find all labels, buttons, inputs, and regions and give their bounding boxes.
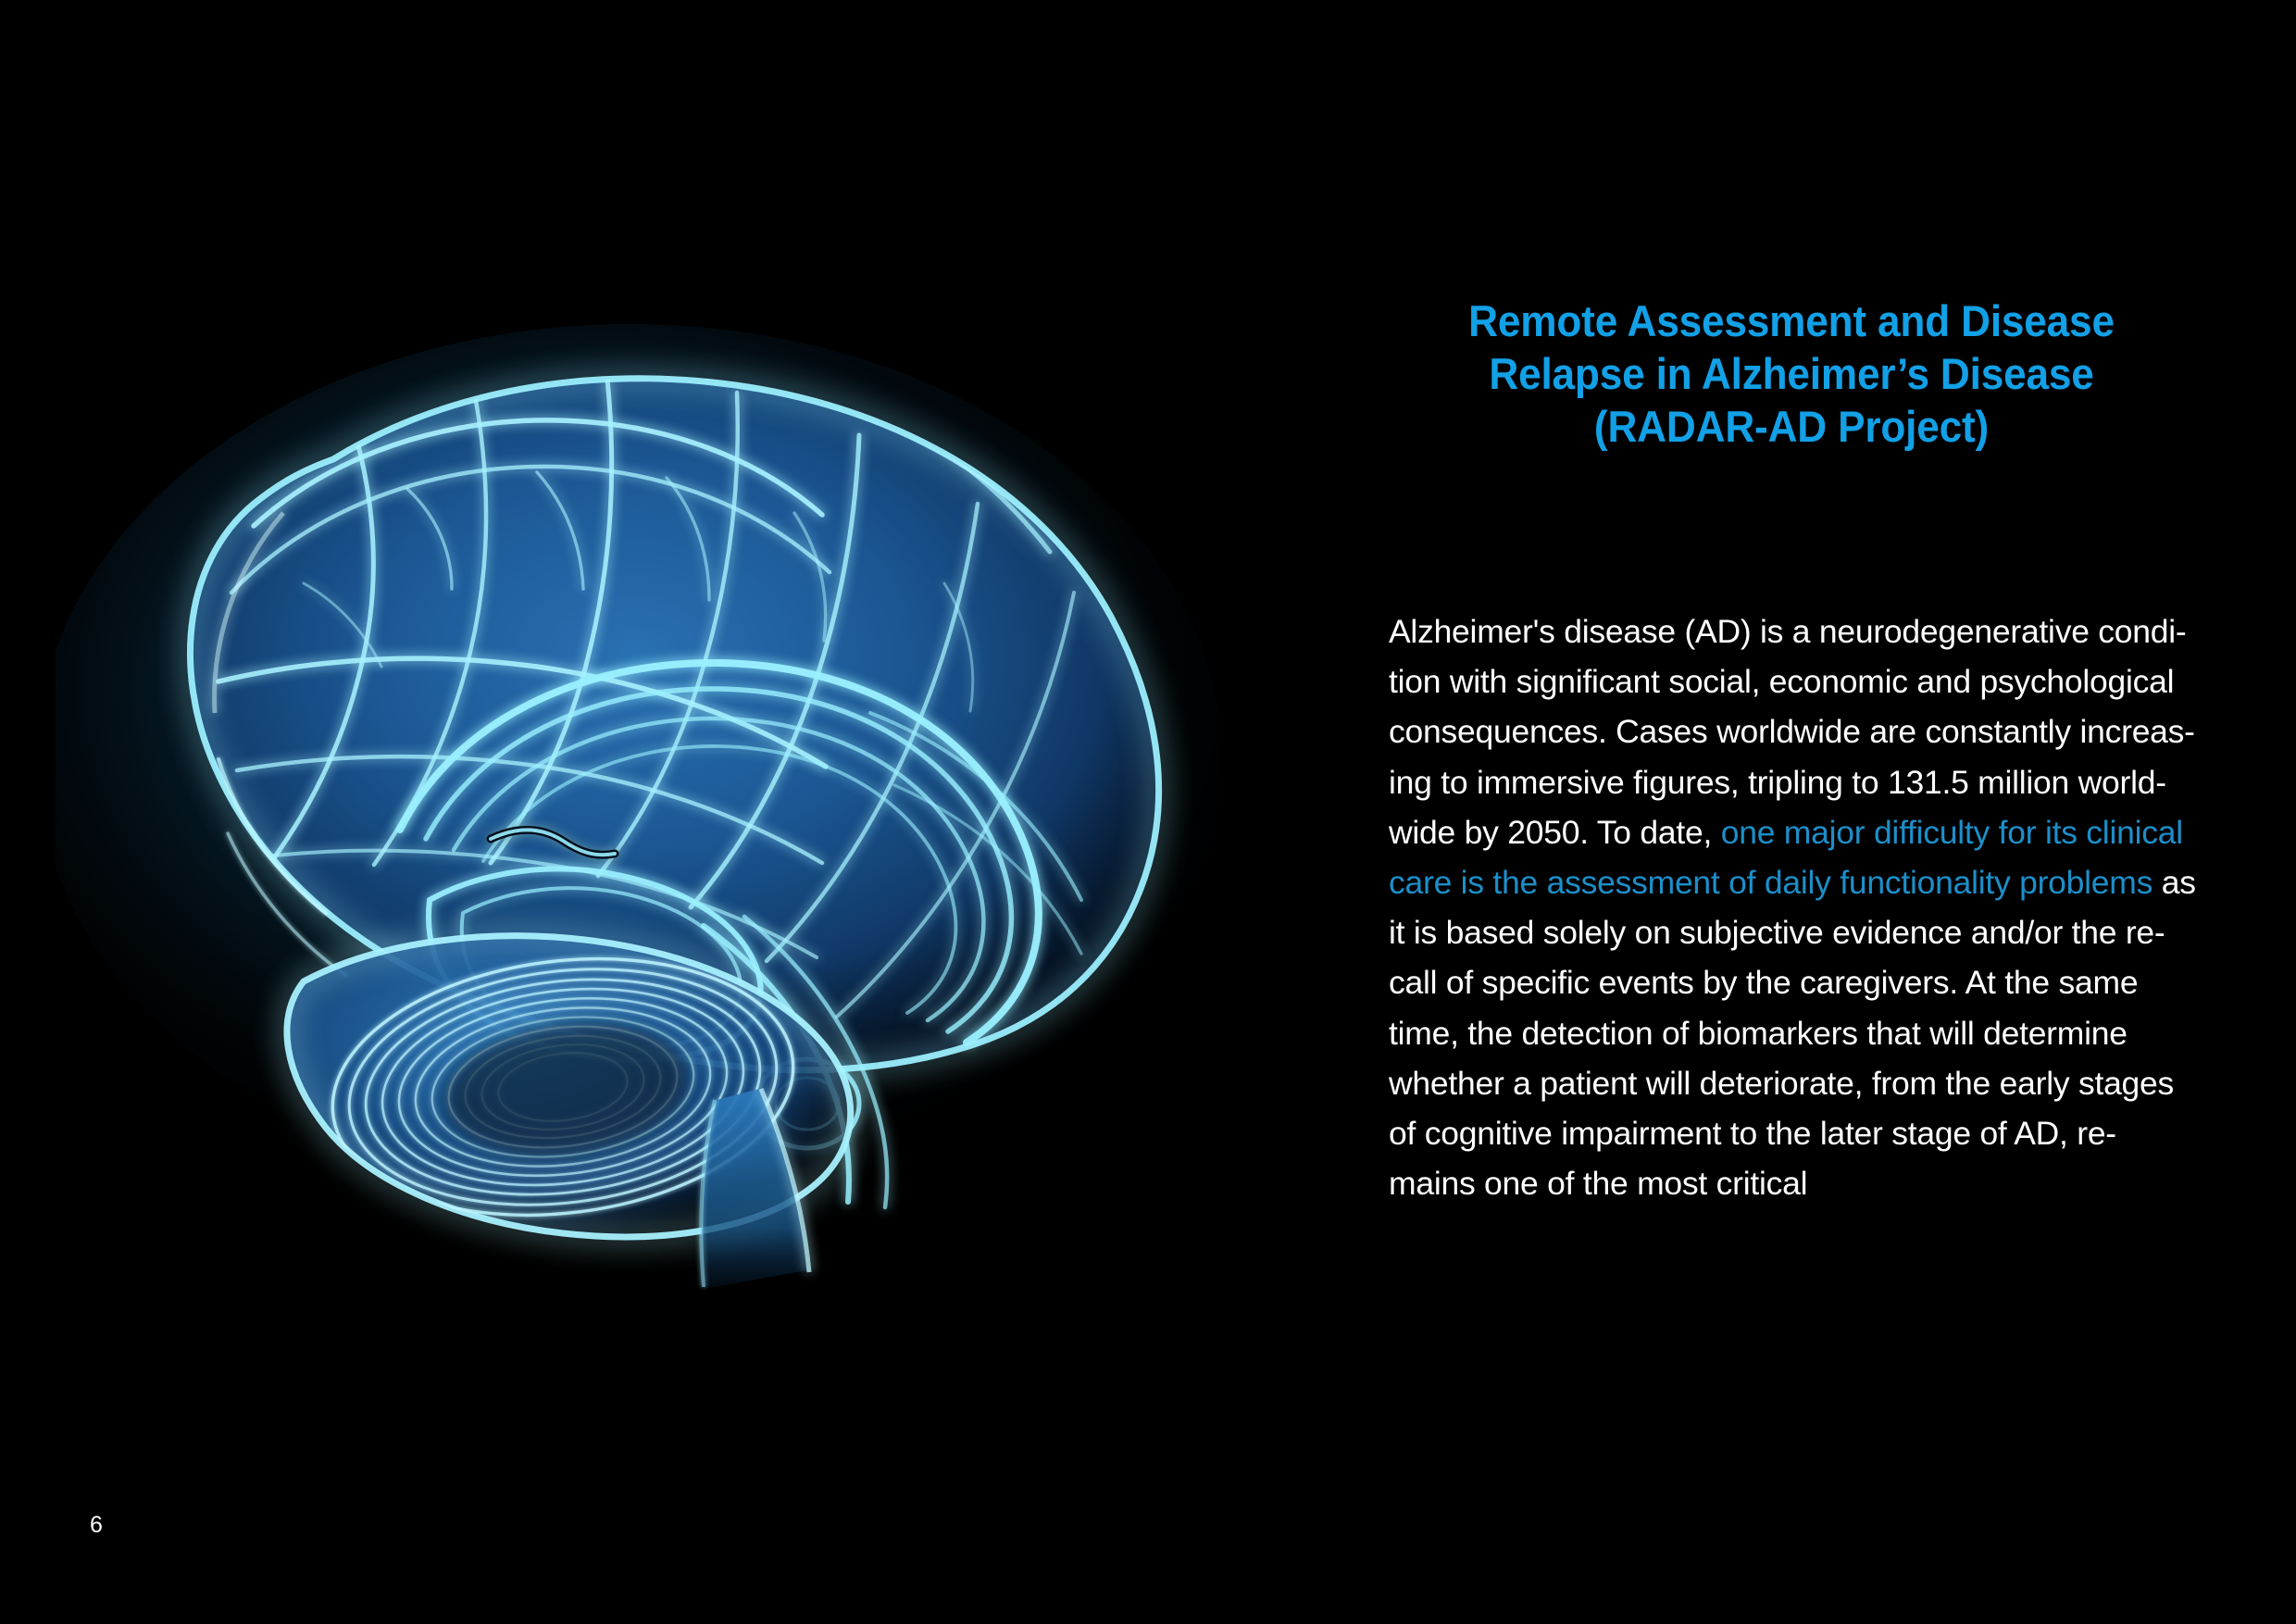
body-line: care is the assessment of daily function… <box>1389 857 2174 907</box>
body-line: time, the detection of biomarkers that w… <box>1389 1008 2174 1058</box>
body-line: wide by 2050. To date, one major difficu… <box>1389 807 2174 857</box>
title-line-2: Relapse in Alzheimer’s Disease <box>1374 347 2209 400</box>
body-text-run: call of specific events by the caregiver… <box>1389 964 2138 1001</box>
body-text-run: whether a patient will deteriorate, from… <box>1389 1065 2174 1102</box>
body-text-run: as <box>2152 864 2196 901</box>
page-number-left: 6 <box>90 1512 103 1539</box>
body-line: ing to immersive figures, tripling to 13… <box>1389 757 2174 807</box>
page-title: Remote Assessment and Disease Relapse in… <box>1374 294 2209 453</box>
body-text-run: mains one of the most critical <box>1389 1165 1807 1202</box>
body-text-run: wide by 2050. To date, <box>1389 814 1721 851</box>
body-text-run: tion with significant social, economic a… <box>1389 663 2174 700</box>
body-text-run: it is based solely on subjective evidenc… <box>1389 914 2165 951</box>
body-text-run: of cognitive impairment to the later sta… <box>1389 1115 2116 1152</box>
left-page: 6 <box>0 0 1291 1624</box>
body-text-run: consequences. Cases worldwide are consta… <box>1389 713 2195 750</box>
body-text-run: ing to immersive figures, tripling to 13… <box>1389 764 2166 801</box>
right-page: Remote Assessment and Disease Relapse in… <box>1291 0 2296 1624</box>
body-line: of cognitive impairment to the later sta… <box>1389 1108 2174 1158</box>
body-paragraph: Alzheimer's disease (AD) is a neurodegen… <box>1389 606 2174 1208</box>
highlighted-text-run: care is the assessment of daily function… <box>1389 864 2152 901</box>
brain-xray-illustration <box>56 278 1291 1305</box>
highlighted-text-run: one major difficulty for its clinical <box>1721 814 2183 851</box>
body-line: call of specific events by the caregiver… <box>1389 957 2174 1007</box>
title-line-1: Remote Assessment and Disease <box>1374 294 2209 347</box>
body-line: whether a patient will deteriorate, from… <box>1389 1058 2174 1108</box>
body-text-run: time, the detection of biomarkers that w… <box>1389 1015 2128 1052</box>
body-line: consequences. Cases worldwide are consta… <box>1389 706 2174 756</box>
page-spread: 6 Remote Assessment and Disease Relapse … <box>0 0 2296 1624</box>
title-line-3: (RADAR-AD Project) <box>1374 400 2209 453</box>
body-line: tion with significant social, economic a… <box>1389 656 2174 706</box>
body-line: mains one of the most critical <box>1389 1158 2174 1208</box>
body-line: Alzheimer's disease (AD) is a neurodegen… <box>1389 606 2174 656</box>
body-text-run: Alzheimer's disease (AD) is a neurodegen… <box>1389 613 2187 650</box>
body-line: it is based solely on subjective evidenc… <box>1389 907 2174 957</box>
